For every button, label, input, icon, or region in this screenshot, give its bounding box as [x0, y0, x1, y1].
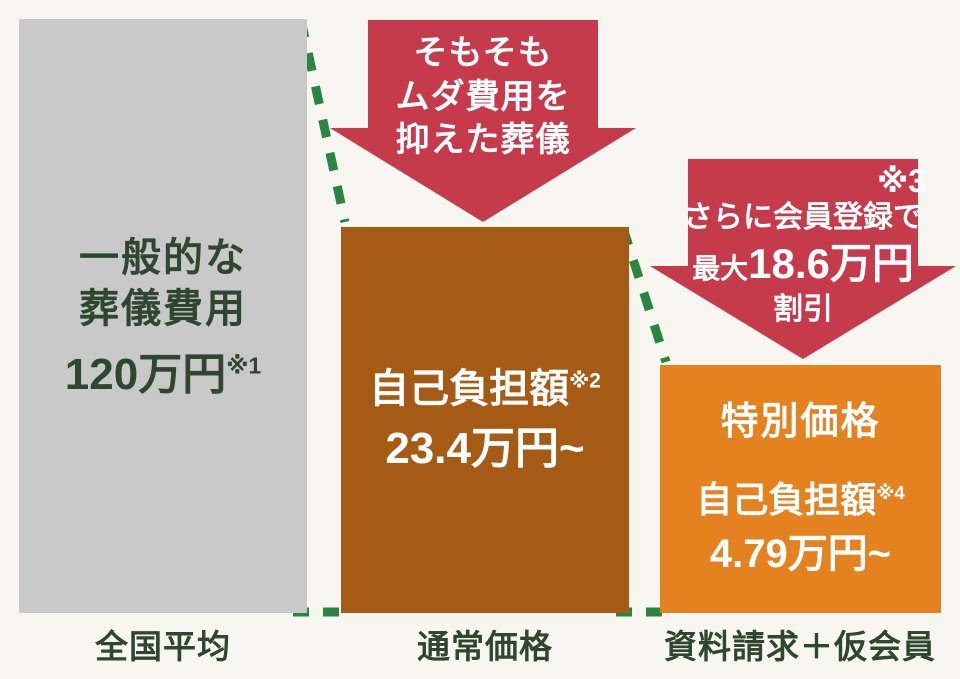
bar-normal-amount: 23.4万円~ [385, 424, 584, 475]
bar-normal-price: 自己負担額※2 23.4万円~ [341, 227, 629, 613]
callout-1-line-3: 抑えた葬儀 [330, 119, 636, 163]
category-label-normal-price: 通常価格 [341, 620, 629, 668]
bar-avg-footnote: ※1 [226, 352, 261, 378]
bar-avg-amount-row: 120万円※1 [65, 351, 261, 399]
bar-normal-burden-label: 自己負担額 [369, 367, 569, 411]
bar-avg-heading: 一般的な 葬儀費用 [79, 233, 247, 335]
callout-member-discount-text: ※3 さらに会員登録で 最大18.6万円 割引 [650, 159, 956, 329]
bar-special-title: 特別価格 [720, 401, 880, 445]
bar-special-amount: 4.79万円~ [710, 531, 891, 577]
callout-1-line-2: ムダ費用を [330, 76, 636, 120]
bar-special-burden-label: 自己負担額 [696, 479, 876, 520]
callout-waste-reduction: そもそも ムダ費用を 抑えた葬儀 [330, 20, 636, 222]
callout-2-line-3: 割引 [650, 291, 956, 329]
bar-special-burden-row: 自己負担額※4 [696, 479, 905, 520]
bar-avg-heading-line2: 葬儀費用 [79, 284, 247, 335]
cost-comparison-chart: 一般的な 葬儀費用 120万円※1 自己負担額※2 23.4万円~ 特別価格 自… [0, 0, 960, 679]
bar-normal-footnote: ※2 [569, 369, 601, 392]
bar-special-footnote: ※4 [876, 482, 905, 503]
bar-avg-heading-line1: 一般的な [79, 233, 247, 284]
category-label-request-provisional-member: 資料請求＋仮会員 [650, 620, 950, 668]
callout-1-line-1: そもそも [330, 32, 636, 76]
callout-2-line-1: さらに会員登録で [650, 199, 956, 237]
callout-2-footnote: ※3 [650, 165, 956, 199]
bar-national-average: 一般的な 葬儀費用 120万円※1 [19, 19, 307, 613]
callout-2-line-2: 最大18.6万円 [650, 237, 956, 291]
category-label-national-average: 全国平均 [19, 620, 307, 668]
callout-member-discount: ※3 さらに会員登録で 最大18.6万円 割引 [650, 159, 956, 359]
bar-normal-burden-row: 自己負担額※2 [369, 366, 601, 412]
bar-avg-amount: 120万円 [65, 350, 226, 399]
callout-2-big-amount: 18.6万円 [748, 240, 914, 287]
callout-2-prefix: 最大 [692, 253, 748, 284]
bar-special-price: 特別価格 自己負担額※4 4.79万円~ [660, 365, 941, 613]
callout-waste-reduction-text: そもそも ムダ費用を 抑えた葬儀 [330, 20, 636, 163]
